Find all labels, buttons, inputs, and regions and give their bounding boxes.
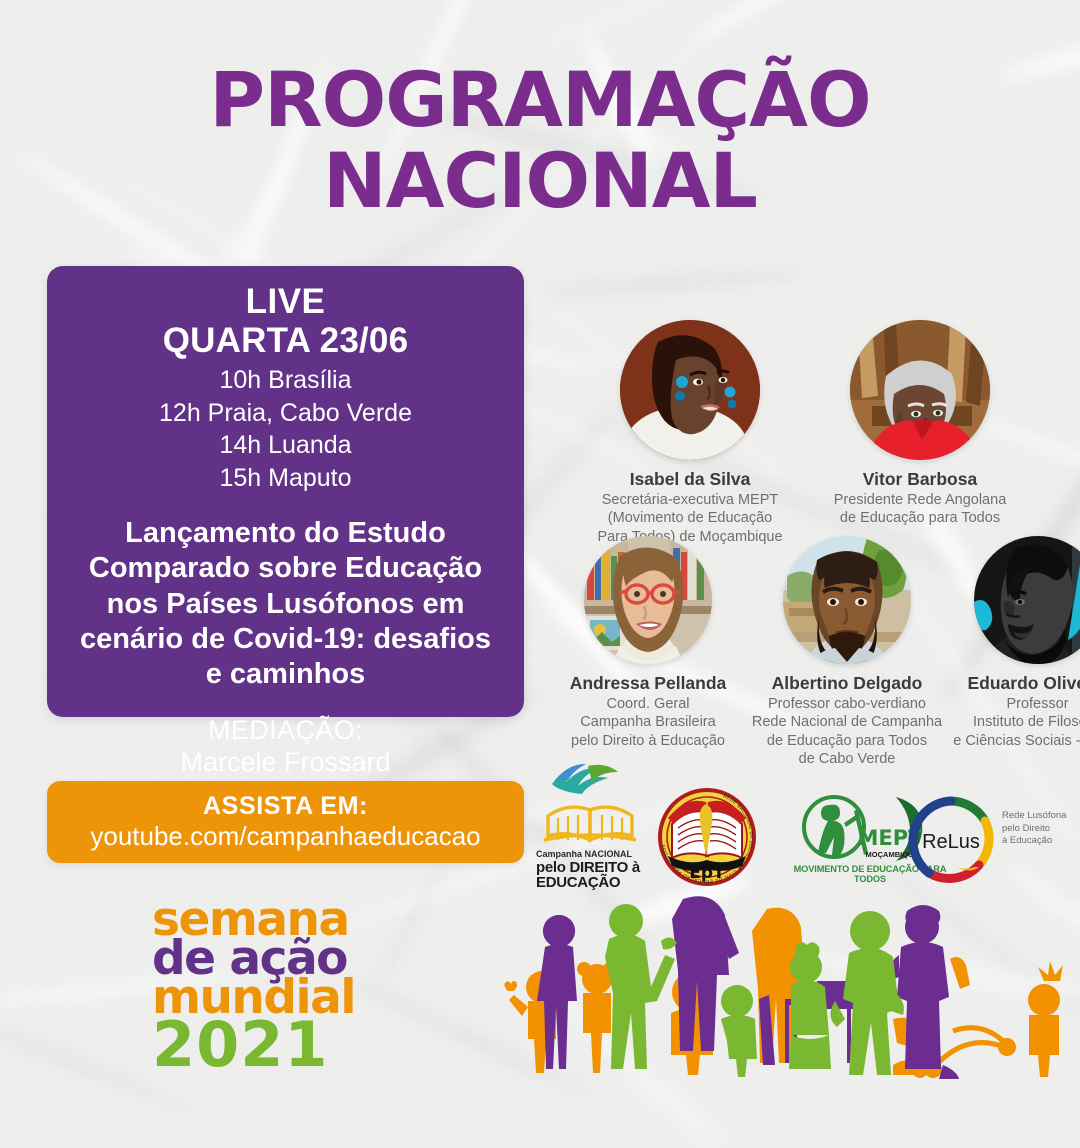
- headline-line-1: PROGRAMAÇÃO: [0, 62, 1080, 137]
- relus-tagline: Rede Lusófona pelo Direito à Educação: [1002, 810, 1078, 848]
- eduardo-photo: [974, 536, 1080, 664]
- timezone-item: 15h Maputo: [69, 462, 502, 495]
- albertino-photo: [783, 536, 911, 664]
- timezone-item: 14h Luanda: [69, 429, 502, 462]
- headline-line-2: NACIONAL: [0, 143, 1080, 218]
- campaign-wordmark: semana de ação mundial 2021: [152, 900, 392, 1070]
- watch-link-button[interactable]: ASSISTA EM: youtube.com/campanhaeducacao: [47, 781, 524, 863]
- live-label: LIVE: [69, 282, 502, 321]
- avatar: [850, 320, 990, 460]
- crowd-illustration: [495, 895, 1080, 1080]
- wordmark-year: 2021: [152, 1019, 392, 1070]
- campanha-caption-line-3: EDUCAÇÃO: [536, 875, 646, 891]
- andressa-photo: [584, 536, 712, 664]
- speaker-role: Professor Instituto de Filosofia e Ciênc…: [930, 695, 1080, 750]
- logo-relus: ReLus: [905, 795, 997, 887]
- speaker-card: Eduardo Oliveira Professor Instituto de …: [930, 536, 1080, 750]
- mediator-name: Marcele Frossard: [69, 746, 502, 778]
- logo-ept: EpT REDE NACIONAL DA SOCIEDADE CIVIL DE …: [648, 778, 766, 896]
- campanha-logo-caption: Campanha NACIONAL pelo DIREITO à EDUCAÇÃ…: [536, 850, 646, 891]
- relus-ring-icon: ReLus: [905, 795, 997, 887]
- timezone-list: 10h Brasília 12h Praia, Cabo Verde 14h L…: [69, 364, 502, 494]
- avatar: [584, 536, 712, 664]
- ept-seal-icon: EpT REDE NACIONAL DA SOCIEDADE CIVIL DE …: [648, 778, 766, 896]
- event-date: QUARTA 23/06: [69, 321, 502, 360]
- speaker-name: Vitor Barbosa: [795, 469, 1045, 489]
- event-info-card: LIVE QUARTA 23/06 10h Brasília 12h Praia…: [47, 266, 524, 717]
- campanha-book-bird-icon: [536, 758, 646, 848]
- speaker-role: Presidente Rede Angolana de Educação par…: [795, 491, 1045, 528]
- isabel-photo: [620, 320, 760, 460]
- logo-campanha-nacional: Campanha NACIONAL pelo DIREITO à EDUCAÇÃ…: [536, 758, 646, 891]
- mediation-label: MEDIAÇÃO:: [69, 714, 502, 746]
- speaker-name: Isabel da Silva: [565, 469, 815, 489]
- avatar: [783, 536, 911, 664]
- page-title: PROGRAMAÇÃO NACIONAL: [0, 62, 1080, 218]
- speaker-name: Eduardo Oliveira: [930, 673, 1080, 693]
- speaker-card: Vitor Barbosa Presidente Rede Angolana d…: [795, 320, 1045, 528]
- watch-label: ASSISTA EM:: [203, 792, 368, 820]
- speaker-card: Isabel da Silva Secretária-executiva MEP…: [565, 320, 815, 546]
- avatar: [620, 320, 760, 460]
- relus-name: ReLus: [922, 831, 980, 853]
- timezone-item: 12h Praia, Cabo Verde: [69, 397, 502, 430]
- avatar: [974, 536, 1080, 664]
- timezone-item: 10h Brasília: [69, 364, 502, 397]
- session-title: Lançamento do Estudo Comparado sobre Edu…: [69, 516, 502, 691]
- vitor-photo: [850, 320, 990, 460]
- watch-url[interactable]: youtube.com/campanhaeducacao: [90, 822, 480, 851]
